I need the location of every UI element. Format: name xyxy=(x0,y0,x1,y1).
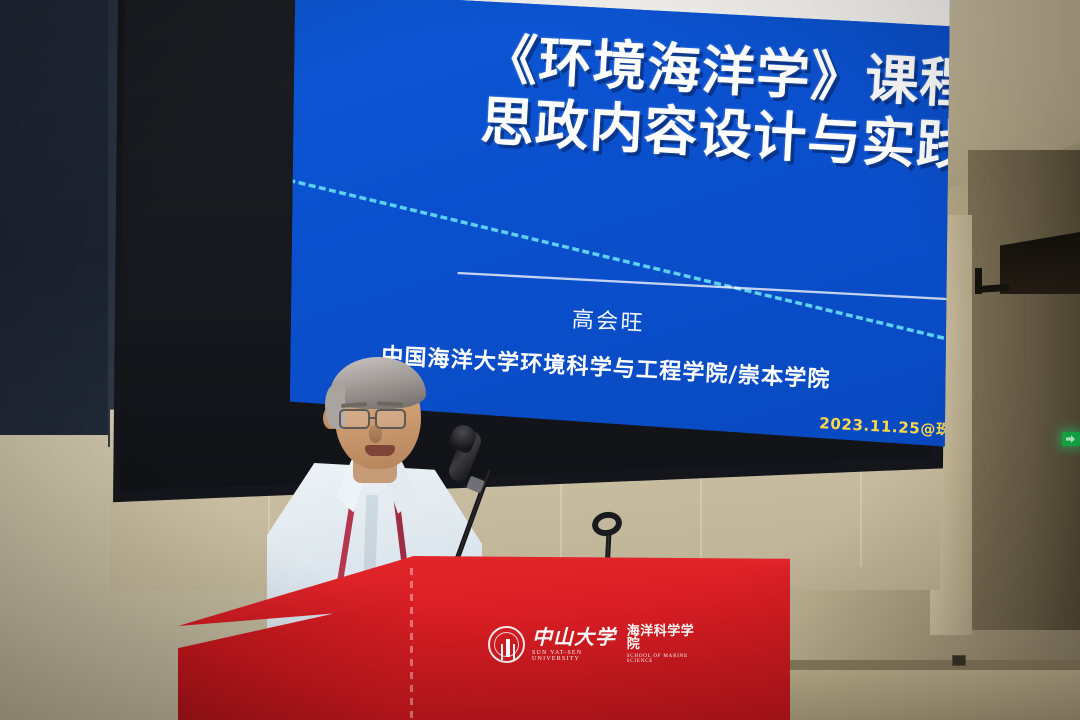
presenter-mouth xyxy=(365,445,395,456)
right-wall-dark-column xyxy=(968,150,1080,630)
school-name-en: SCHOOL OF MARINE SCIENCE xyxy=(627,654,702,664)
baseboard xyxy=(760,660,1080,670)
university-seal-icon xyxy=(488,626,525,663)
glasses-lens-left xyxy=(339,409,370,429)
glasses-bridge xyxy=(369,417,377,419)
presenter-nose xyxy=(369,425,382,443)
exit-sign-icon xyxy=(1062,432,1080,446)
left-wall-panel xyxy=(0,0,120,470)
school-wordmark: 海洋科学学院 SCHOOL OF MARINE SCIENCE xyxy=(627,625,702,664)
slide-divider-rule xyxy=(458,272,947,300)
slide-title: 《环境海洋学》课程 思政内容设计与实践 xyxy=(290,14,950,179)
school-name-cn: 海洋科学学院 xyxy=(627,625,702,651)
podium-corner-edge xyxy=(410,568,413,720)
university-name-cn: 中山大学 xyxy=(532,627,617,647)
podium-logo: 中山大学 SUN YAT-SEN UNIVERSITY 海洋科学学院 SCHOO… xyxy=(488,620,702,668)
presentation-photo-scene: 全国海洋科学专业课程思政教学研讨会 《环境海洋学》课程 思政内容设计与实践 高会… xyxy=(0,0,1080,720)
podium: 中山大学 SUN YAT-SEN UNIVERSITY 海洋科学学院 SCHOO… xyxy=(178,556,790,720)
university-name-en: SUN YAT-SEN UNIVERSITY xyxy=(532,650,617,662)
slide-date-location: 2023.11.25@珠海 xyxy=(819,411,950,441)
university-wordmark: 中山大学 SUN YAT-SEN UNIVERSITY xyxy=(532,627,617,662)
floor xyxy=(760,668,1080,720)
wall-socket xyxy=(952,655,966,666)
